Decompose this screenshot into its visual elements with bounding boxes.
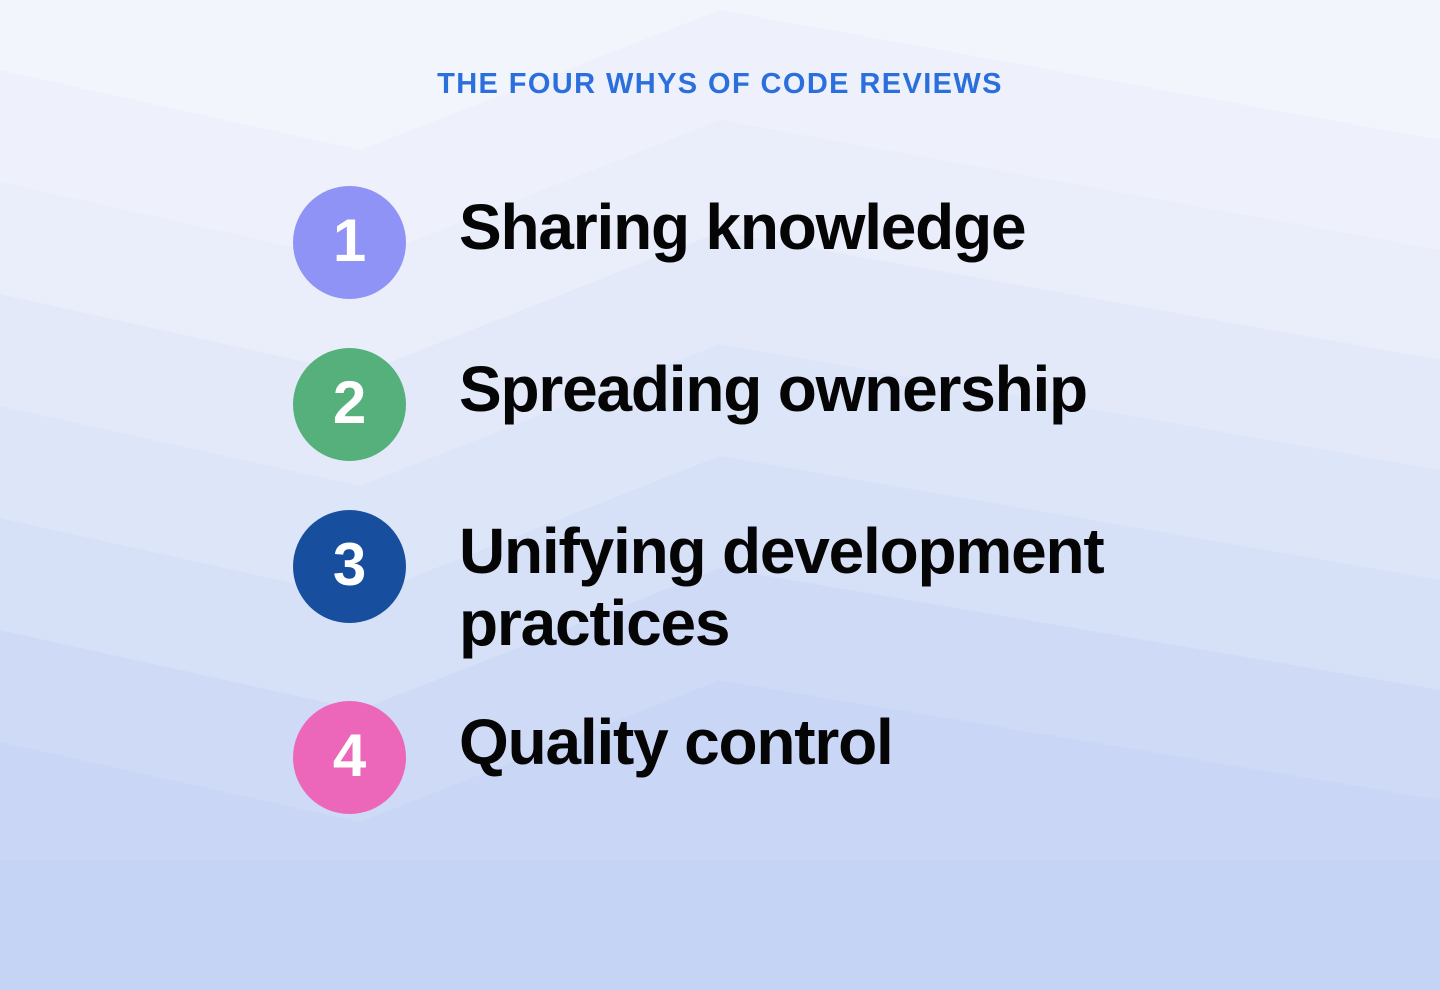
- list-item-label-3: Unifying development practices: [459, 510, 1219, 659]
- list-item: 3 Unifying development practices: [293, 510, 1303, 659]
- list-item-label-4: Quality control: [459, 701, 1219, 779]
- list-item: 1 Sharing knowledge: [293, 186, 1303, 299]
- number-badge-4: 4: [293, 701, 406, 814]
- number-badge-2: 2: [293, 348, 406, 461]
- list-item-label-2: Spreading ownership: [459, 348, 1219, 426]
- number-badge-1: 1: [293, 186, 406, 299]
- list-item-label-1: Sharing knowledge: [459, 186, 1219, 264]
- infographic-canvas: THE FOUR WHYS OF CODE REVIEWS 1 Sharing …: [0, 0, 1440, 990]
- list-item: 2 Spreading ownership: [293, 348, 1303, 461]
- numbered-list: 1 Sharing knowledge 2 Spreading ownershi…: [293, 186, 1303, 814]
- list-item: 4 Quality control: [293, 701, 1303, 814]
- page-title: THE FOUR WHYS OF CODE REVIEWS: [0, 68, 1440, 101]
- number-badge-3: 3: [293, 510, 406, 623]
